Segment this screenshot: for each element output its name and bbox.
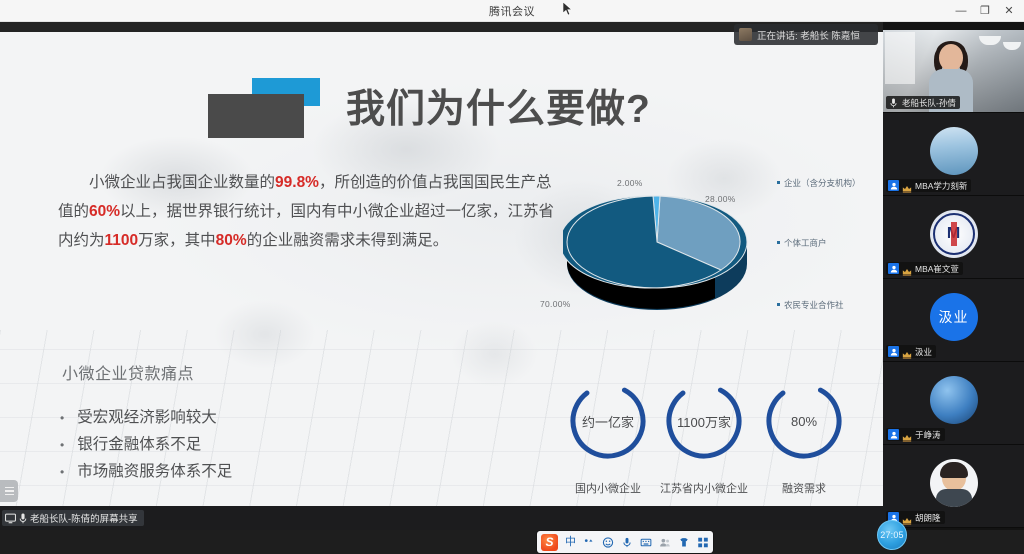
close-button[interactable]: ✕ (998, 1, 1020, 21)
toolbox-icon[interactable] (697, 537, 709, 548)
legend-dot-icon (777, 241, 780, 244)
participant-name-chip-3: 汲业 (886, 345, 936, 358)
donut-value-2: 80% (763, 380, 845, 462)
participant-tile-3[interactable]: 汲业 汲业 (883, 279, 1024, 362)
user-icon (888, 346, 899, 357)
bullet-label-2: 市场融资服务体系不足 (77, 458, 232, 485)
participant-name-1: MBA学力刻新 (915, 180, 967, 192)
logo-red-bar (951, 222, 957, 246)
window-title: 腾讯会议 (489, 3, 535, 19)
host-badge-icon (902, 181, 912, 191)
donut-stat-0: 约一亿家 国内小微企业 (560, 380, 656, 496)
maximize-button[interactable]: ❐ (974, 1, 996, 21)
mouse-cursor-icon (563, 2, 573, 16)
hamburger-line-icon (5, 494, 14, 496)
participant-name-chip-2: MBA崔文萱 (886, 262, 963, 275)
bullet-dot-icon: • (60, 412, 64, 424)
host-badge-icon (902, 430, 912, 440)
skin-icon[interactable] (678, 537, 690, 548)
donut-ring: 约一亿家 (567, 380, 649, 462)
donut-stat-group: 约一亿家 国内小微企业 1100万家 江苏省内小微企业 (560, 380, 880, 510)
sidebar-collapse-handle[interactable] (0, 480, 18, 502)
participant-name-0: 老船长队-孙倩 (902, 97, 956, 109)
soft-keyboard-icon[interactable] (640, 537, 652, 548)
host-badge-icon (902, 264, 912, 274)
participant-name-4: 于峥涛 (915, 429, 941, 441)
window-controls: — ❐ ✕ (950, 0, 1020, 22)
meeting-timer-value: 27:05 (880, 530, 904, 540)
user-icon (888, 180, 899, 191)
avatar-initials: 汲业 (939, 307, 969, 327)
legend-dot-icon (777, 181, 780, 184)
punctuation-toggle-icon[interactable] (583, 537, 595, 548)
donut-caption-1: 江苏省内小微企业 (656, 480, 752, 496)
list-item: • 受宏观经济影响较大 (60, 404, 390, 431)
hamburger-line-icon (5, 490, 14, 492)
voice-input-icon[interactable] (621, 537, 633, 548)
title-decoration-gray (208, 94, 304, 138)
avatar: 汲业 (930, 293, 978, 341)
donut-ring: 1100万家 (663, 380, 745, 462)
participant-tile-5[interactable]: 胡朗隆 (883, 445, 1024, 528)
screen-share-status: 老船长队-陈倩的屏幕共享 (2, 510, 144, 526)
participant-name-3: 汲业 (915, 346, 932, 358)
donut-stat-1: 1100万家 江苏省内小微企业 (656, 380, 752, 496)
bullet-label-1: 银行金融体系不足 (77, 431, 201, 458)
window-frame-decor (885, 32, 915, 84)
bullet-label-0: 受宏观经济影响较大 (77, 404, 217, 431)
donut-ring: 80% (763, 380, 845, 462)
tencent-meeting-window: 腾讯会议 — ❐ ✕ 我们为什么要做? 小微企业占我国企业数量的99.8%，所创… (0, 0, 1024, 554)
legend-label-1: 个体工商户 (784, 236, 827, 250)
lamp-icon (1003, 42, 1021, 50)
screen-share-label: 老船长队-陈倩的屏幕共享 (30, 511, 138, 525)
meeting-timer-badge[interactable]: 27:05 (877, 520, 907, 550)
host-badge-icon (902, 347, 912, 357)
lamp-icon (979, 36, 1001, 45)
para-seg-8: 的企业融资需求未得到满足。 (247, 232, 449, 249)
list-item: • 市场融资服务体系不足 (60, 458, 390, 485)
user-icon (888, 263, 899, 274)
emoji-icon[interactable] (602, 537, 614, 548)
bullet-dot-icon: • (60, 466, 64, 478)
screen-share-icon (5, 513, 16, 524)
para-highlight-60: 60% (89, 203, 120, 220)
para-highlight-80: 80% (216, 232, 247, 249)
bullet-dot-icon: • (60, 439, 64, 451)
participant-tile-4[interactable]: 于峥涛 (883, 362, 1024, 445)
participant-name-chip-0: 老船长队-孙倩 (886, 96, 960, 109)
pie-label-2pct: 2.00% (617, 178, 643, 188)
window-titlebar: 腾讯会议 — ❐ ✕ (0, 0, 1024, 22)
para-seg-6: 万家，其中 (138, 232, 216, 249)
presentation-slide: 我们为什么要做? 小微企业占我国企业数量的99.8%，所创造的价值占我国国民生产… (0, 32, 883, 520)
legend-dot-icon (777, 303, 780, 306)
list-item: • 银行金融体系不足 (60, 431, 390, 458)
minimize-button[interactable]: — (950, 1, 972, 21)
ime-toolbar[interactable]: S 中 (537, 531, 713, 553)
slide-paragraph: 小微企业占我国企业数量的99.8%，所创造的价值占我国国民生产总值的60%以上，… (58, 168, 558, 255)
legend-item-individual: 个体工商户 (777, 236, 827, 250)
donut-value-0: 约一亿家 (567, 380, 649, 462)
participant-tile-1[interactable]: MBA学力刻新 (883, 113, 1024, 196)
slide-bullet-list: • 受宏观经济影响较大 • 银行金融体系不足 • 市场融资服务体系不足 (60, 404, 390, 485)
avatar (930, 459, 978, 507)
speaker-avatar (739, 28, 752, 41)
sogou-logo-icon[interactable]: S (541, 534, 558, 551)
host-badge-icon (902, 513, 912, 523)
avatar (930, 127, 978, 175)
mic-icon (19, 513, 27, 524)
active-speaker-label: 正在讲话: 老船长 陈嘉恒 (757, 28, 860, 42)
donut-stat-2: 80% 融资需求 (756, 380, 852, 496)
screen-share-bar: 老船长队-陈倩的屏幕共享 (0, 506, 883, 530)
active-speaker-toast: 正在讲话: 老船长 陈嘉恒 (734, 24, 878, 45)
participant-name-5: 胡朗隆 (915, 512, 941, 524)
participant-tile-0[interactable]: 老船长队-孙倩 (883, 30, 1024, 113)
contacts-icon[interactable] (659, 537, 671, 548)
hamburger-line-icon (5, 487, 14, 489)
legend-label-0: 企业（含分支机构） (784, 176, 861, 190)
pie-label-70pct: 70.00% (540, 299, 571, 309)
donut-caption-2: 融资需求 (756, 480, 852, 496)
participant-name-2: MBA崔文萱 (915, 263, 959, 275)
avatar (930, 376, 978, 424)
slide-title: 我们为什么要做? (346, 78, 651, 134)
donut-caption-0: 国内小微企业 (560, 480, 656, 496)
avatar: M (930, 210, 978, 258)
legend-item-enterprise: 企业（含分支机构） (777, 176, 861, 190)
mic-icon (888, 97, 899, 108)
donut-value-1: 1100万家 (663, 380, 745, 462)
user-icon (888, 429, 899, 440)
participant-rail[interactable]: 老船长队-孙倩 MBA学力刻新 M (883, 22, 1024, 530)
legend-item-coop: 农民专业合作社 (777, 298, 844, 312)
para-highlight-998: 99.8% (275, 174, 319, 191)
pie-chart: 2.00% 28.00% 70.00% 企业（含分支机构） 个体工商户 农民专业… (555, 164, 883, 329)
shared-screen-stage[interactable]: 我们为什么要做? 小微企业占我国企业数量的99.8%，所创造的价值占我国国民生产… (0, 22, 883, 530)
para-highlight-1100: 1100 (105, 232, 139, 249)
para-seg-0: 小微企业占我国企业数量的 (89, 174, 275, 191)
participant-tile-2[interactable]: M MBA崔文萱 (883, 196, 1024, 279)
pie-label-28pct: 28.00% (705, 194, 736, 204)
ime-language-toggle[interactable]: 中 (565, 537, 576, 548)
slide-sub-heading: 小微企业贷款痛点 (62, 360, 194, 384)
participant-name-chip-1: MBA学力刻新 (886, 179, 971, 192)
participant-name-chip-4: 于峥涛 (886, 428, 945, 441)
legend-label-2: 农民专业合作社 (784, 298, 844, 312)
